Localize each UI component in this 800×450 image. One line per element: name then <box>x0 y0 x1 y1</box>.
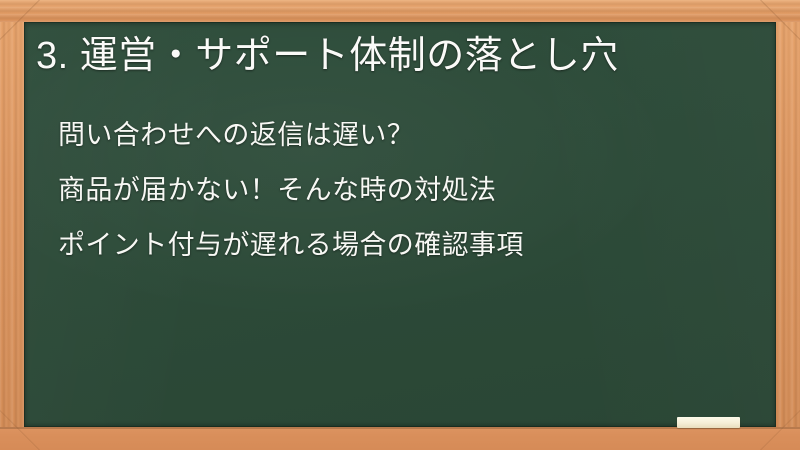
bullet-item-2: 商品が届かない！そんな時の対処法 <box>58 163 758 218</box>
frame-rail-top <box>0 0 800 22</box>
frame-ledge-bottom <box>0 427 800 450</box>
bullet-item-3: ポイント付与が遅れる場合の確認事項 <box>58 218 758 273</box>
bullet-item-1: 問い合わせへの返信は遅い？ <box>58 108 758 163</box>
chalkboard-slide: 3. 運営・サポート体制の落とし穴 問い合わせへの返信は遅い？ 商品が届かない！… <box>0 0 800 450</box>
slide-content: 3. 運営・サポート体制の落とし穴 問い合わせへの返信は遅い？ 商品が届かない！… <box>24 22 776 427</box>
bullet-list: 問い合わせへの返信は遅い？ 商品が届かない！そんな時の対処法 ポイント付与が遅れ… <box>58 108 758 273</box>
slide-title: 3. 運営・サポート体制の落とし穴 <box>36 34 762 78</box>
chalk-stick-icon <box>677 417 740 428</box>
chalkboard-surface: 3. 運営・サポート体制の落とし穴 問い合わせへの返信は遅い？ 商品が届かない！… <box>24 22 776 427</box>
